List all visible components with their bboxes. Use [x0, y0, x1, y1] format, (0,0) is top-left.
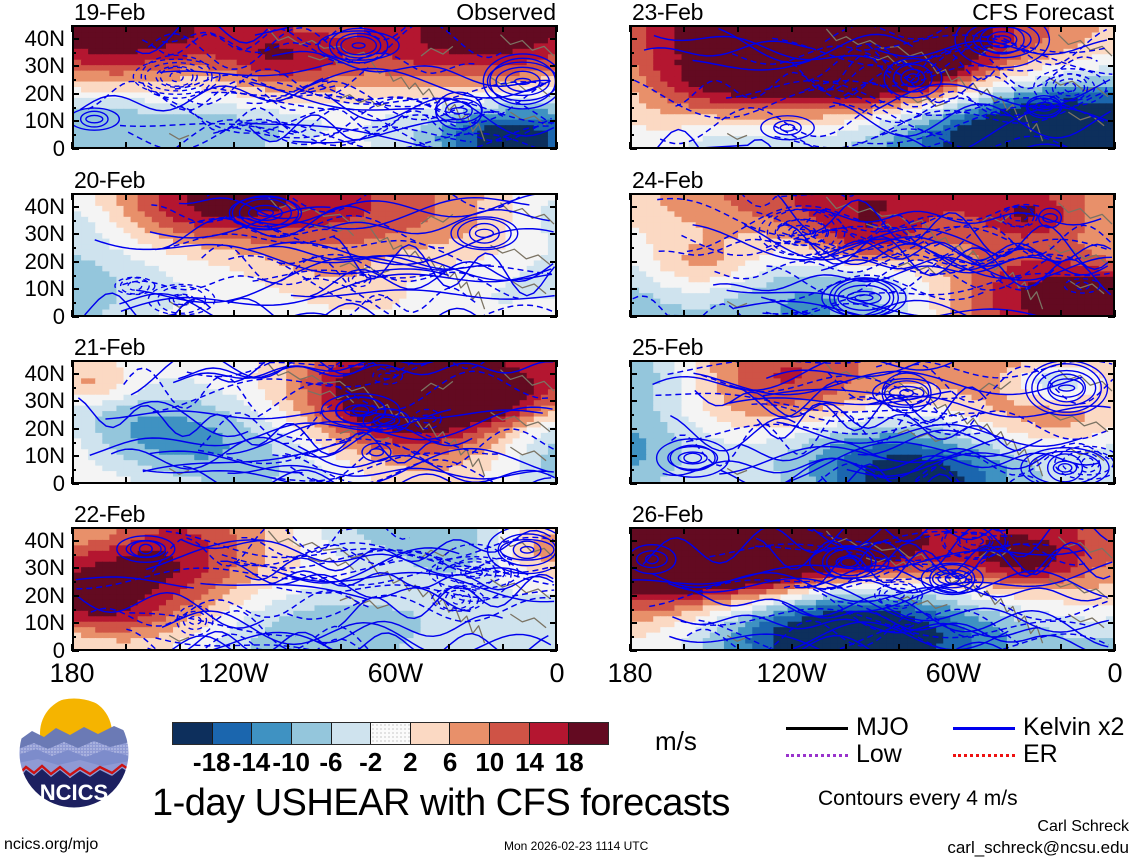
- y-axis-label: 10N: [25, 110, 65, 132]
- x-axis-tick: [502, 142, 504, 149]
- y-axis-tick: [630, 483, 637, 485]
- x-axis-tick: [502, 360, 504, 367]
- y-axis-tick: [630, 455, 637, 457]
- y-axis-minor-tick: [72, 79, 76, 81]
- x-axis-tick: [448, 644, 450, 651]
- contours-interval-note: Contours every 4 m/s: [818, 787, 1018, 811]
- y-axis-label: 20N: [25, 83, 65, 105]
- y-axis-tick: [630, 148, 637, 150]
- x-axis-tick: [556, 193, 558, 200]
- contour-legend: MJOKelvin x2LowER: [786, 716, 1086, 768]
- x-axis-tick: [287, 25, 289, 32]
- colorbar-swatch: [490, 723, 530, 744]
- x-axis-tick: [1060, 142, 1062, 149]
- colorbar-tick-label: -10: [272, 748, 310, 776]
- x-axis-tick: [340, 193, 342, 200]
- x-axis-tick: [791, 527, 793, 534]
- x-axis-tick: [1114, 142, 1116, 149]
- colorbar-tick-label: 14: [515, 748, 544, 776]
- x-axis-tick: [394, 25, 396, 32]
- y-axis-minor-tick: [72, 636, 76, 638]
- panel-24-feb: 24-Feb: [630, 193, 1115, 317]
- x-axis-label: 0: [549, 659, 564, 687]
- x-axis-tick: [125, 193, 127, 200]
- x-axis-tick: [448, 360, 450, 367]
- x-axis-tick: [71, 193, 73, 200]
- panel-19-feb: 19-FebObserved40N30N20N10N0: [72, 25, 557, 149]
- x-axis-tick: [898, 360, 900, 367]
- map-plot-area: [72, 527, 557, 651]
- y-axis-tick: [1108, 373, 1115, 375]
- x-axis-tick: [125, 360, 127, 367]
- colorbar-tick-labels: -18-14-10-6-226101418: [172, 748, 609, 778]
- x-axis-tick: [952, 644, 954, 651]
- x-axis-tick: [1060, 360, 1062, 367]
- y-axis-tick: [72, 567, 79, 569]
- y-axis-tick: [1108, 65, 1115, 67]
- x-axis-label: 60W: [926, 659, 982, 687]
- y-axis-tick: [1108, 120, 1115, 122]
- x-axis-label: 120W: [198, 659, 269, 687]
- y-axis-tick: [1108, 206, 1115, 208]
- y-axis-tick: [630, 316, 637, 318]
- y-axis-minor-tick: [630, 609, 634, 611]
- map-plot-area: [630, 193, 1115, 317]
- panel-date-label: 26-Feb: [632, 502, 703, 526]
- x-axis-tick: [898, 477, 900, 484]
- y-axis-tick: [550, 455, 557, 457]
- x-axis-tick: [71, 142, 73, 149]
- x-axis-tick: [71, 644, 73, 651]
- x-axis-tick: [340, 477, 342, 484]
- y-axis-tick: [630, 65, 637, 67]
- shaded-field: [74, 27, 555, 147]
- y-axis-label: 40N: [25, 363, 65, 385]
- y-axis-minor-tick: [630, 469, 634, 471]
- logo-wordmark: NCICS: [40, 780, 108, 805]
- panel-date-label: 25-Feb: [632, 335, 703, 359]
- legend-label: MJO: [856, 713, 909, 741]
- y-axis-tick: [1108, 93, 1115, 95]
- y-axis-tick: [550, 120, 557, 122]
- colorbar-swatch: [569, 723, 608, 744]
- map-plot-area: [72, 360, 557, 484]
- y-axis-tick: [1108, 288, 1115, 290]
- x-axis-tick: [556, 644, 558, 651]
- y-axis-minor-tick: [630, 52, 634, 54]
- y-axis-tick: [1108, 261, 1115, 263]
- x-axis-tick: [1114, 527, 1116, 534]
- y-axis-tick: [72, 373, 79, 375]
- y-axis-tick: [550, 567, 557, 569]
- y-axis-minor-tick: [72, 275, 76, 277]
- y-axis-tick: [630, 38, 637, 40]
- x-axis-tick: [502, 644, 504, 651]
- x-axis-tick: [683, 193, 685, 200]
- colorbar-tick-label: 10: [475, 748, 504, 776]
- x-axis-tick: [845, 360, 847, 367]
- credit-author: Carl Schreck: [1037, 818, 1129, 836]
- x-axis-tick: [71, 25, 73, 32]
- panel-date-label: 21-Feb: [74, 335, 145, 359]
- y-axis-tick: [72, 595, 79, 597]
- x-axis-tick: [683, 360, 685, 367]
- y-axis-minor-tick: [630, 220, 634, 222]
- x-axis-tick: [1060, 477, 1062, 484]
- y-axis-tick: [1108, 428, 1115, 430]
- legend-label: Kelvin x2: [1023, 713, 1124, 741]
- colorbar-swatch: [213, 723, 253, 744]
- y-axis-tick: [72, 206, 79, 208]
- x-axis-tick: [1006, 527, 1008, 534]
- colorbar-swatch: [530, 723, 570, 744]
- y-axis-label: 10N: [25, 278, 65, 300]
- x-axis-tick: [683, 142, 685, 149]
- x-axis-tick: [737, 644, 739, 651]
- x-axis-tick: [125, 310, 127, 317]
- x-axis-label: 60W: [368, 659, 424, 687]
- y-axis-label: 30N: [25, 390, 65, 412]
- y-axis-tick: [1108, 233, 1115, 235]
- x-axis-tick: [233, 310, 235, 317]
- y-axis-tick: [630, 400, 637, 402]
- panel-20-feb: 20-Feb40N30N20N10N0: [72, 193, 557, 317]
- x-axis-tick: [340, 360, 342, 367]
- x-axis-tick: [125, 142, 127, 149]
- y-axis-label: 0: [53, 138, 65, 160]
- y-axis-tick: [630, 233, 637, 235]
- panel-kind-label: Observed: [456, 0, 556, 24]
- y-axis-tick: [630, 595, 637, 597]
- legend-line-swatch: [953, 754, 1015, 757]
- shaded-field: [74, 362, 555, 482]
- x-axis-tick: [287, 142, 289, 149]
- y-axis-tick: [1108, 567, 1115, 569]
- x-axis-tick: [791, 25, 793, 32]
- panel-25-feb: 25-Feb: [630, 360, 1115, 484]
- panel-date-label: 23-Feb: [632, 0, 703, 24]
- y-axis-tick: [72, 455, 79, 457]
- y-axis-tick: [550, 622, 557, 624]
- panel-date-label: 20-Feb: [74, 168, 145, 192]
- x-axis-tick: [394, 310, 396, 317]
- x-axis-tick: [502, 527, 504, 534]
- x-axis-tick: [448, 527, 450, 534]
- y-axis-tick: [550, 65, 557, 67]
- y-axis-tick: [72, 65, 79, 67]
- colorbar-tick-label: -14: [233, 748, 271, 776]
- x-axis-tick: [179, 360, 181, 367]
- x-axis-tick: [556, 142, 558, 149]
- y-axis-label: 40N: [25, 196, 65, 218]
- y-axis-label: 40N: [25, 530, 65, 552]
- y-axis-tick: [72, 148, 79, 150]
- y-axis-minor-tick: [630, 581, 634, 583]
- x-axis-tick: [737, 193, 739, 200]
- x-axis-tick: [287, 310, 289, 317]
- x-axis-tick: [898, 142, 900, 149]
- x-axis-tick: [952, 310, 954, 317]
- x-axis-tick: [287, 527, 289, 534]
- colorbar: [172, 722, 609, 745]
- x-axis-tick: [629, 477, 631, 484]
- x-axis-label: 180: [607, 659, 652, 687]
- x-axis-tick: [448, 193, 450, 200]
- y-axis-minor-tick: [630, 247, 634, 249]
- panel-22-feb: 22-Feb40N30N20N10N0180120W60W0: [72, 527, 557, 651]
- y-axis-minor-tick: [72, 442, 76, 444]
- x-axis-tick: [791, 310, 793, 317]
- colorbar-tick-label: -6: [319, 748, 342, 776]
- x-axis-tick: [71, 527, 73, 534]
- panel-date-label: 24-Feb: [632, 168, 703, 192]
- x-axis-tick: [952, 193, 954, 200]
- x-axis-tick: [233, 360, 235, 367]
- x-axis-tick: [502, 25, 504, 32]
- x-axis-tick: [394, 644, 396, 651]
- y-axis-tick: [72, 622, 79, 624]
- x-axis-label: 180: [49, 659, 94, 687]
- x-axis-tick: [179, 477, 181, 484]
- y-axis-label: 10N: [25, 612, 65, 634]
- y-axis-tick: [630, 567, 637, 569]
- x-axis-tick: [1060, 310, 1062, 317]
- y-axis-tick: [550, 233, 557, 235]
- panel-date-label: 19-Feb: [74, 0, 145, 24]
- y-axis-minor-tick: [630, 387, 634, 389]
- y-axis-label: 30N: [25, 557, 65, 579]
- y-axis-label: 10N: [25, 445, 65, 467]
- x-axis-tick: [179, 527, 181, 534]
- colorbar-units-label: m/s: [655, 727, 697, 755]
- x-axis-tick: [1006, 25, 1008, 32]
- y-axis-minor-tick: [72, 469, 76, 471]
- x-axis-tick: [1060, 644, 1062, 651]
- x-axis-tick: [233, 477, 235, 484]
- colorbar-swatch: [173, 723, 213, 744]
- x-axis-tick: [1060, 527, 1062, 534]
- x-axis-tick: [845, 193, 847, 200]
- y-axis-tick: [1108, 400, 1115, 402]
- y-axis-tick: [630, 540, 637, 542]
- colorbar-swatch: [411, 723, 451, 744]
- y-axis-label: 20N: [25, 585, 65, 607]
- x-axis-tick: [791, 644, 793, 651]
- x-axis-tick: [952, 25, 954, 32]
- y-axis-tick: [72, 540, 79, 542]
- x-axis-tick: [737, 477, 739, 484]
- x-axis-tick: [448, 142, 450, 149]
- x-axis-tick: [287, 477, 289, 484]
- y-axis-tick: [72, 120, 79, 122]
- y-axis-label: 40N: [25, 28, 65, 50]
- colorbar-tick-label: 2: [403, 748, 417, 776]
- colorbar-tick-label: -2: [359, 748, 382, 776]
- x-axis-tick: [898, 527, 900, 534]
- panel-26-feb: 26-Feb180120W60W0: [630, 527, 1115, 651]
- x-axis-tick: [1114, 310, 1116, 317]
- x-axis-tick: [1006, 310, 1008, 317]
- y-axis-minor-tick: [72, 609, 76, 611]
- legend-line-swatch: [953, 727, 1015, 730]
- x-axis-tick: [502, 193, 504, 200]
- y-axis-minor-tick: [630, 134, 634, 136]
- x-axis-tick: [340, 310, 342, 317]
- x-axis-tick: [1114, 193, 1116, 200]
- x-axis-tick: [845, 142, 847, 149]
- y-axis-tick: [630, 93, 637, 95]
- colorbar-tick-label: 6: [443, 748, 457, 776]
- x-axis-tick: [448, 477, 450, 484]
- x-axis-tick: [179, 25, 181, 32]
- y-axis-tick: [1108, 622, 1115, 624]
- x-axis-tick: [629, 360, 631, 367]
- shaded-field: [632, 27, 1113, 147]
- x-axis-tick: [287, 360, 289, 367]
- y-axis-tick: [630, 428, 637, 430]
- y-axis-tick: [72, 233, 79, 235]
- colorbar-swatch: [371, 723, 411, 744]
- y-axis-tick: [630, 622, 637, 624]
- y-axis-minor-tick: [72, 414, 76, 416]
- x-axis-tick: [233, 142, 235, 149]
- y-axis-tick: [550, 38, 557, 40]
- y-axis-tick: [72, 288, 79, 290]
- colorbar-tick-label: -18: [193, 748, 231, 776]
- x-axis-tick: [340, 644, 342, 651]
- x-axis-tick: [629, 142, 631, 149]
- x-axis-tick: [629, 25, 631, 32]
- x-axis-tick: [629, 527, 631, 534]
- x-axis-tick: [340, 142, 342, 149]
- map-plot-area: [630, 25, 1115, 149]
- y-axis-tick: [72, 650, 79, 652]
- shaded-field: [632, 529, 1113, 649]
- y-axis-minor-tick: [72, 107, 76, 109]
- x-axis-tick: [556, 477, 558, 484]
- x-axis-tick: [683, 25, 685, 32]
- panel-grid: 19-FebObserved40N30N20N10N023-FebCFS For…: [0, 0, 1135, 645]
- y-axis-tick: [1108, 455, 1115, 457]
- x-axis-tick: [629, 644, 631, 651]
- x-axis-label: 120W: [756, 659, 827, 687]
- y-axis-tick: [550, 206, 557, 208]
- y-axis-tick: [630, 261, 637, 263]
- y-axis-tick: [72, 38, 79, 40]
- y-axis-minor-tick: [630, 107, 634, 109]
- x-axis-tick: [898, 644, 900, 651]
- x-axis-tick: [556, 25, 558, 32]
- y-axis-minor-tick: [630, 554, 634, 556]
- x-axis-tick: [448, 25, 450, 32]
- panel-date-label: 22-Feb: [74, 502, 145, 526]
- x-axis-tick: [233, 527, 235, 534]
- colorbar-swatch: [292, 723, 332, 744]
- x-axis-tick: [233, 25, 235, 32]
- x-axis-tick: [845, 25, 847, 32]
- y-axis-tick: [550, 373, 557, 375]
- x-axis-tick: [125, 527, 127, 534]
- map-plot-area: [72, 193, 557, 317]
- x-axis-tick: [1060, 25, 1062, 32]
- x-axis-tick: [394, 193, 396, 200]
- x-axis-tick: [737, 25, 739, 32]
- x-axis-tick: [340, 25, 342, 32]
- y-axis-label: 0: [53, 306, 65, 328]
- x-axis-tick: [898, 193, 900, 200]
- x-axis-tick: [394, 527, 396, 534]
- x-axis-tick: [737, 142, 739, 149]
- y-axis-minor-tick: [72, 52, 76, 54]
- x-axis-tick: [340, 527, 342, 534]
- x-axis-tick: [502, 477, 504, 484]
- x-axis-tick: [1114, 25, 1116, 32]
- y-axis-minor-tick: [72, 387, 76, 389]
- x-axis-tick: [737, 527, 739, 534]
- colorbar-swatch: [332, 723, 372, 744]
- x-axis-tick: [1060, 193, 1062, 200]
- x-axis-tick: [952, 527, 954, 534]
- x-axis-tick: [179, 310, 181, 317]
- x-axis-label: 0: [1107, 659, 1122, 687]
- x-axis-tick: [179, 644, 181, 651]
- x-axis-tick: [629, 193, 631, 200]
- panel-23-feb: 23-FebCFS Forecast: [630, 25, 1115, 149]
- y-axis-label: 20N: [25, 251, 65, 273]
- map-plot-area: [72, 25, 557, 149]
- x-axis-tick: [394, 477, 396, 484]
- panel-21-feb: 21-Feb40N30N20N10N0: [72, 360, 557, 484]
- footer-url[interactable]: ncics.org/mjo: [4, 836, 98, 854]
- colorbar-swatch: [252, 723, 292, 744]
- legend-line-swatch: [786, 727, 848, 730]
- x-axis-tick: [556, 527, 558, 534]
- y-axis-tick: [630, 373, 637, 375]
- y-axis-label: 30N: [25, 55, 65, 77]
- y-axis-tick: [550, 428, 557, 430]
- x-axis-tick: [556, 360, 558, 367]
- y-axis-minor-tick: [630, 275, 634, 277]
- y-axis-label: 20N: [25, 418, 65, 440]
- y-axis-tick: [630, 120, 637, 122]
- x-axis-tick: [1006, 142, 1008, 149]
- x-axis-tick: [502, 310, 504, 317]
- x-axis-tick: [556, 310, 558, 317]
- y-axis-tick: [550, 540, 557, 542]
- x-axis-tick: [1114, 477, 1116, 484]
- y-axis-minor-tick: [72, 554, 76, 556]
- credit-email[interactable]: carl_schreck@ncsu.edu: [947, 838, 1129, 857]
- x-axis-tick: [125, 477, 127, 484]
- y-axis-tick: [550, 595, 557, 597]
- x-axis-tick: [1006, 360, 1008, 367]
- y-axis-tick: [72, 316, 79, 318]
- x-axis-tick: [683, 310, 685, 317]
- y-axis-tick: [630, 206, 637, 208]
- x-axis-tick: [125, 644, 127, 651]
- map-plot-area: [630, 527, 1115, 651]
- x-axis-tick: [845, 310, 847, 317]
- x-axis-tick: [845, 477, 847, 484]
- legend-label: Low: [856, 740, 902, 768]
- y-axis-minor-tick: [630, 636, 634, 638]
- y-axis-minor-tick: [72, 302, 76, 304]
- y-axis-minor-tick: [630, 79, 634, 81]
- x-axis-tick: [71, 310, 73, 317]
- y-axis-tick: [72, 483, 79, 485]
- colorbar-tick-label: 18: [555, 748, 584, 776]
- y-axis-label: 0: [53, 473, 65, 495]
